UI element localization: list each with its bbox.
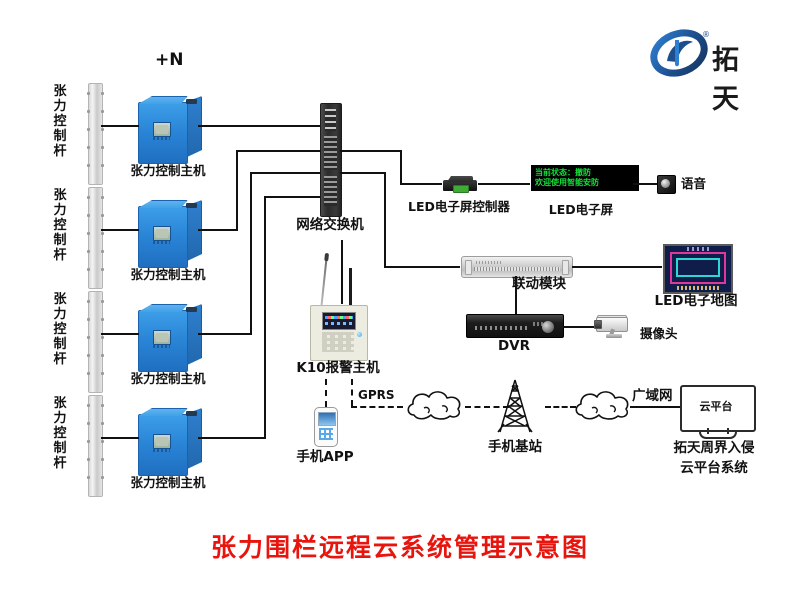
wire-switch-ledctl-seg1 [340, 150, 402, 152]
network-switch [320, 103, 342, 217]
phone-app-label: 手机APP [296, 450, 353, 466]
wire-switch-linkage-seg1 [340, 172, 386, 174]
cloud-platform-label-line1: 拓天周界入侵 [674, 441, 755, 457]
alarm-host-label: K10报警主机 [296, 361, 379, 377]
led-map-label: LED电子地图 [654, 294, 737, 310]
led-electronic-map [663, 244, 733, 294]
gprs-label: GPRS [358, 388, 395, 402]
brand-name: 拓天 [712, 38, 741, 116]
tension-controller-3 [138, 304, 200, 370]
led-screen-line1: 当前状态：撤防 [535, 168, 635, 178]
tension-pole-3 [88, 291, 103, 393]
wire-ledscreen-voice [633, 183, 657, 185]
wire-linkage-dvr [515, 276, 517, 316]
dash-alarmhost-phone [325, 379, 327, 407]
tension-controller-2 [138, 200, 200, 266]
wire-controller4-seg2 [264, 196, 266, 439]
wire-pole4-controller4 [101, 437, 139, 439]
wire-linkage-ledmap [572, 266, 662, 268]
cloud-left-icon [404, 388, 466, 426]
wire-controller4-seg1 [198, 437, 266, 439]
pole-label-1: 张力控制杆 [52, 84, 68, 159]
antenna-right-icon [349, 268, 352, 308]
pole-label-4: 张力控制杆 [52, 396, 68, 471]
controller-label-3: 张力控制主机 [130, 372, 205, 387]
tension-pole-4 [88, 395, 103, 497]
dash-gprs-down [351, 379, 353, 406]
dvr-label: DVR [498, 339, 530, 355]
linkage-module [461, 256, 573, 278]
led-screen-line2: 欢迎使用智能安防 [535, 178, 635, 188]
cell-tower-icon [486, 378, 544, 440]
led-electronic-screen: 当前状态：撤防 欢迎使用智能安防 [531, 165, 639, 191]
pole-label-2: 张力控制杆 [52, 188, 68, 263]
controller-label-4: 张力控制主机 [130, 476, 205, 491]
camera-label: 摄像头 [640, 327, 678, 342]
camera-device [594, 315, 634, 339]
wire-dvr-camera [563, 326, 595, 328]
wire-switch-ledctl-seg2 [400, 150, 402, 183]
diagram-canvas: ® 拓天 +N 张力控制杆 张力控制主机 张力控制杆 张力控制主机 张力控制杆 [0, 0, 800, 600]
base-station-label: 手机基站 [488, 440, 542, 456]
tension-controller-4 [138, 408, 200, 474]
voice-speaker-icon [657, 175, 676, 194]
led-controller-label: LED电子屏控制器 [408, 200, 510, 215]
tension-controller-1 [138, 96, 200, 162]
wire-switch-ledctl-seg3 [400, 183, 442, 185]
pole-label-3: 张力控制杆 [52, 292, 68, 367]
wire-controller2-seg2 [236, 150, 238, 231]
dash-gprs-right [351, 406, 403, 408]
wire-ledctl-ledscreen [478, 183, 530, 185]
k10-alarm-host [310, 305, 368, 361]
wire-controller4-seg3 [264, 196, 320, 198]
linkage-module-label: 联动模块 [512, 277, 566, 293]
wire-pole2-controller2 [101, 229, 139, 231]
cloud-platform-monitor: 云平台 [680, 385, 752, 437]
tension-pole-2 [88, 187, 103, 289]
wire-controller3-seg1 [198, 333, 252, 335]
wire-controller3-seg3 [250, 172, 320, 174]
wire-controller2-seg1 [198, 229, 238, 231]
registered-mark: ® [702, 30, 710, 39]
wire-pole1-controller1 [101, 125, 139, 127]
cloud-platform-screen-text: 云平台 [680, 398, 752, 414]
diagram-title: 张力围栏远程云系统管理示意图 [211, 528, 589, 564]
voice-label: 语音 [681, 177, 706, 192]
mobile-phone-app [314, 407, 338, 447]
wire-controller2-seg3 [236, 150, 320, 152]
antenna-left-icon [320, 258, 327, 306]
cloud-platform-label-line2: 云平台系统 [680, 461, 748, 477]
wire-switch-linkage-seg3 [384, 266, 460, 268]
switch-label: 网络交换机 [296, 218, 364, 234]
led-screen-label: LED电子屏 [549, 203, 613, 218]
tension-pole-1 [88, 83, 103, 185]
wire-controller3-seg2 [250, 172, 252, 335]
wire-wan-link [630, 406, 680, 408]
led-screen-controller [443, 176, 477, 191]
dvr-recorder [466, 314, 564, 338]
plus-n-annotation: +N [155, 50, 183, 70]
wan-label: 广域网 [632, 389, 673, 405]
tuotian-swirl-icon [650, 28, 708, 78]
wire-controller1-switch [198, 125, 320, 127]
controller-label-2: 张力控制主机 [130, 268, 205, 283]
wire-pole3-controller3 [101, 333, 139, 335]
cloud-right-icon [572, 388, 634, 426]
wire-switch-linkage-seg2 [384, 172, 386, 267]
wire-switch-alarmhost [341, 240, 343, 304]
controller-label-1: 张力控制主机 [130, 164, 205, 179]
